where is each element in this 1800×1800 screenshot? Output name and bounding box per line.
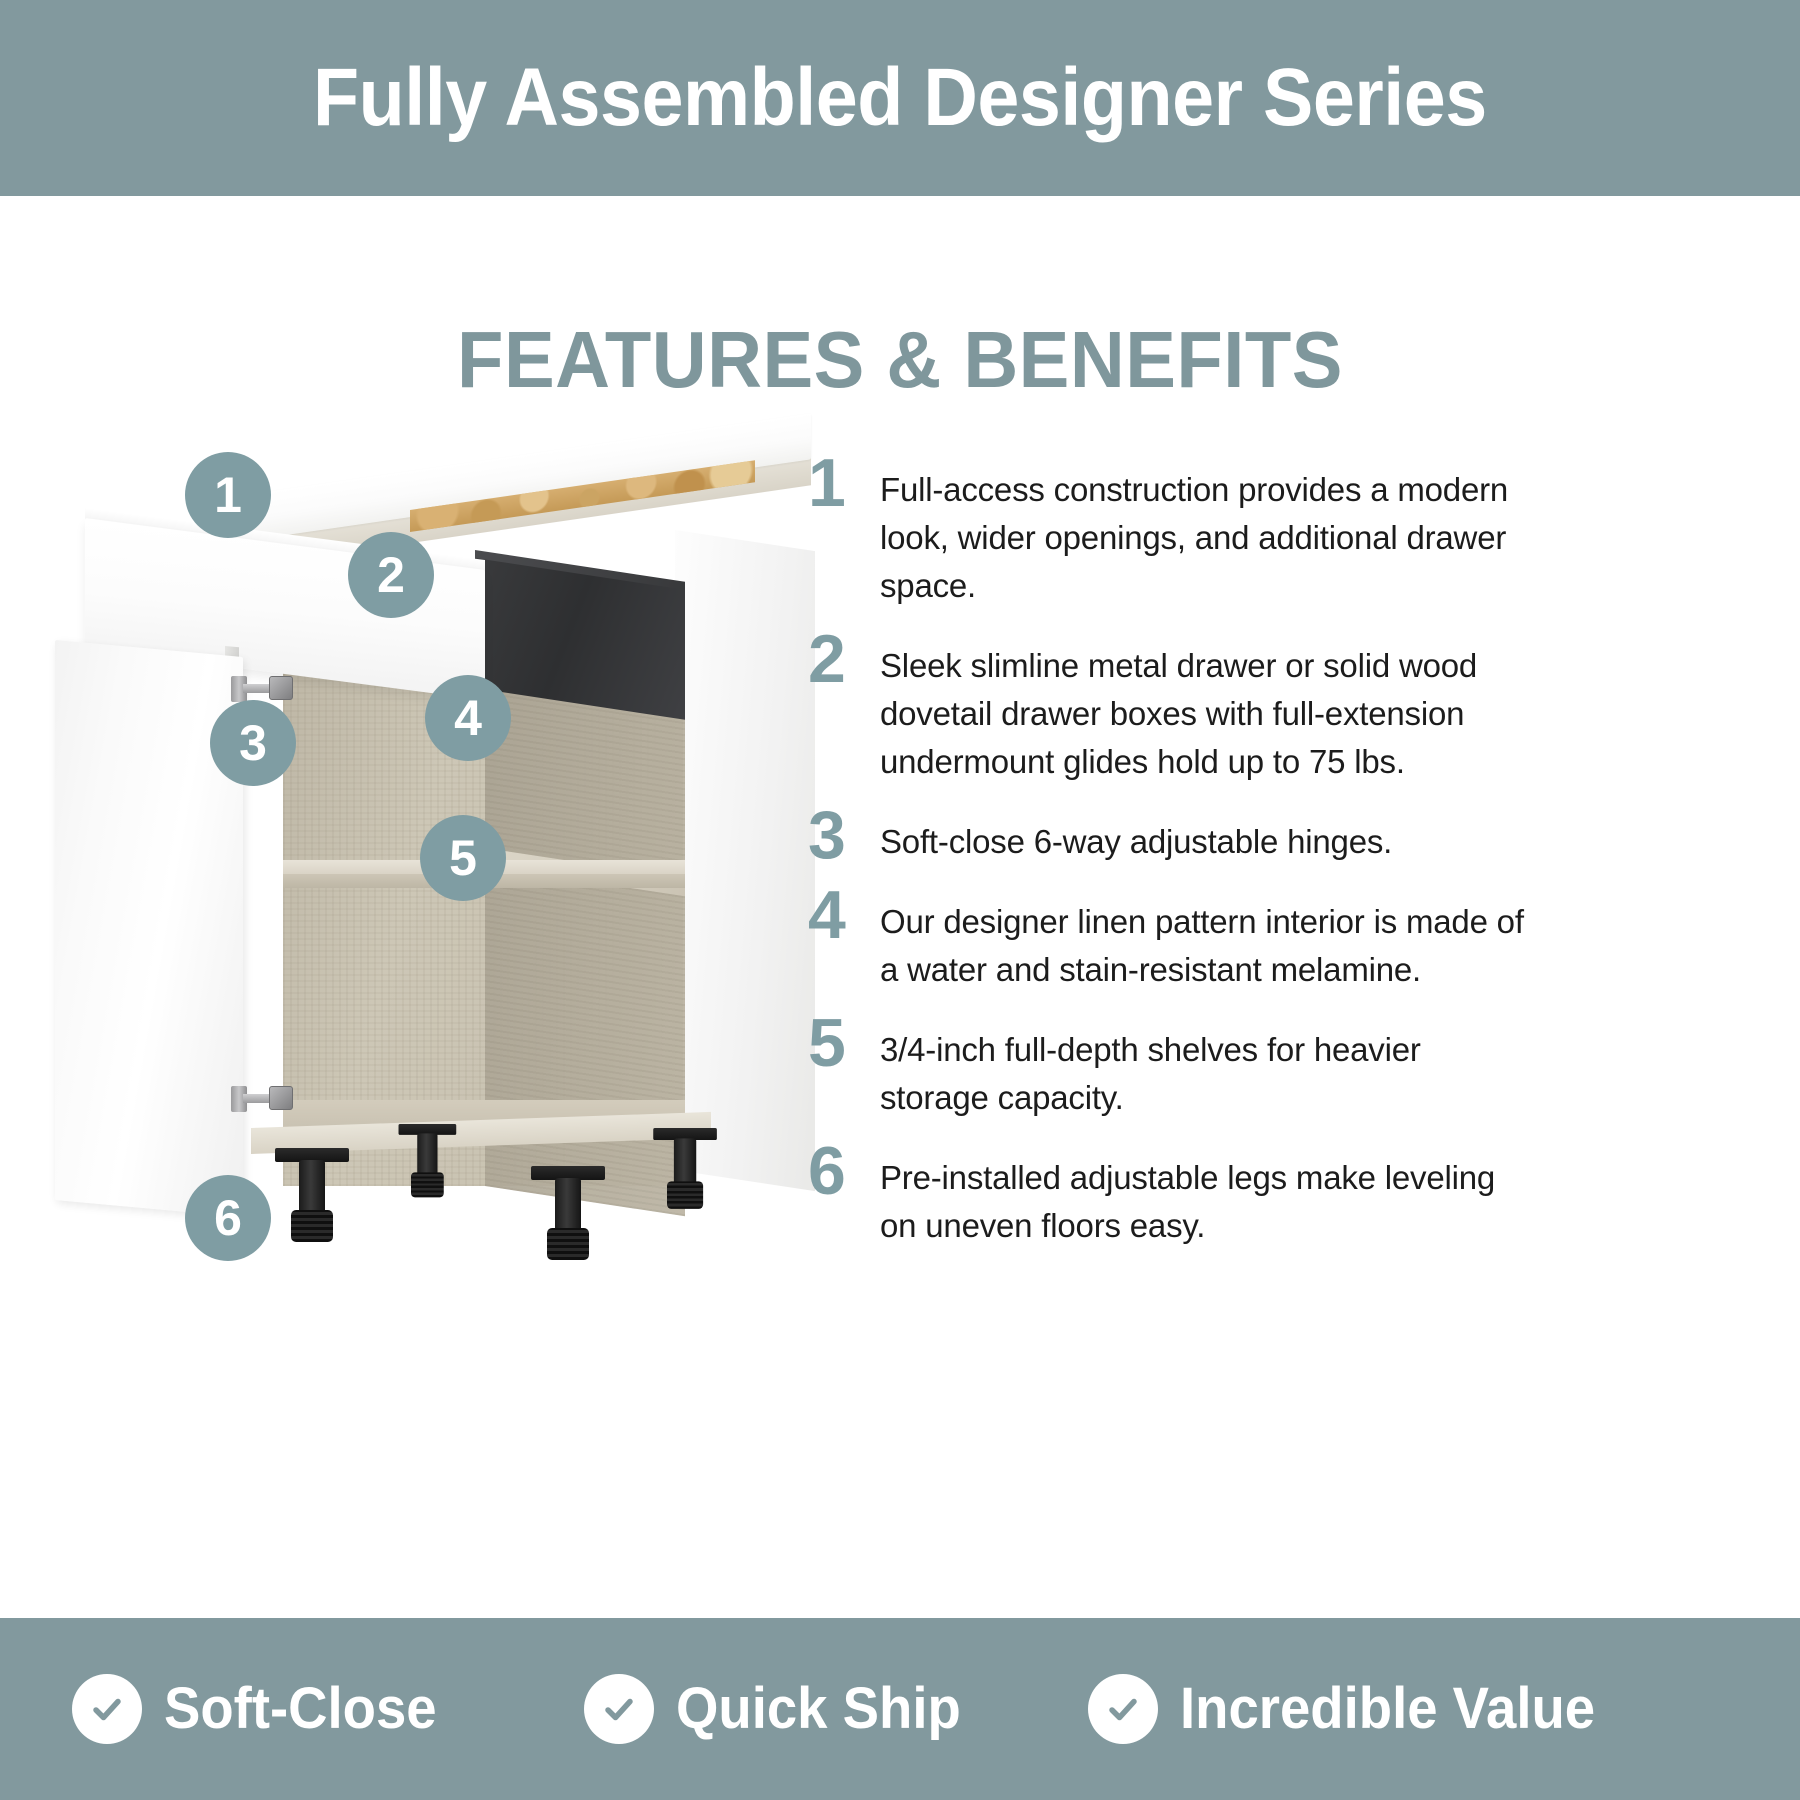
feature-item-6: 6 Pre-installed adjustable legs make lev… — [808, 1140, 1528, 1250]
feature-item-2: 2 Sleek slimline metal drawer or solid w… — [808, 628, 1528, 786]
callout-badge-6: 6 — [185, 1175, 271, 1261]
page-title: Fully Assembled Designer Series — [313, 57, 1487, 139]
callout-badge-1: 1 — [185, 452, 271, 538]
leg-foot — [547, 1228, 589, 1260]
feature-description: Soft-close 6-way adjustable hinges. — [880, 804, 1528, 866]
feature-description: Our designer linen pattern interior is m… — [880, 884, 1528, 994]
callout-badge-2: 2 — [348, 532, 434, 618]
footer-badge-quick-ship: Quick Ship — [584, 1674, 979, 1744]
footer-badge-label: Incredible Value — [1180, 1680, 1595, 1738]
footer-badge-label: Soft-Close — [164, 1680, 437, 1738]
feature-number: 5 — [808, 1012, 880, 1074]
feature-description: Full-access construction provides a mode… — [880, 452, 1528, 610]
leg-foot — [667, 1181, 703, 1209]
soft-close-hinge-bottom — [231, 1078, 295, 1118]
callout-badge-3: 3 — [210, 700, 296, 786]
callout-badge-5: 5 — [420, 815, 506, 901]
features-list: 1 Full-access construction provides a mo… — [808, 452, 1528, 1268]
header-bar: Fully Assembled Designer Series — [0, 0, 1800, 196]
cabinet-illustration — [55, 500, 845, 1330]
feature-description: Pre-installed adjustable legs make level… — [880, 1140, 1528, 1250]
footer-badge-soft-close: Soft-Close — [72, 1674, 454, 1744]
feature-number: 4 — [808, 884, 880, 946]
footer-badge-label: Quick Ship — [676, 1680, 961, 1738]
footer-badge-incredible-value: Incredible Value — [1088, 1674, 1622, 1744]
feature-description: Sleek slimline metal drawer or solid woo… — [880, 628, 1528, 786]
check-circle-icon — [72, 1674, 142, 1744]
feature-item-1: 1 Full-access construction provides a mo… — [808, 452, 1528, 610]
hinge-cup — [269, 1086, 293, 1110]
footer-bar: Soft-Close Quick Ship Incredible Value — [0, 1618, 1800, 1800]
leg-foot — [411, 1172, 444, 1197]
feature-description: 3/4-inch full-depth shelves for heavier … — [880, 1012, 1528, 1122]
cabinet-right-side-panel — [675, 530, 815, 1191]
feature-item-3: 3 Soft-close 6-way adjustable hinges. — [808, 804, 1528, 866]
check-circle-icon — [1088, 1674, 1158, 1744]
leg-foot — [291, 1210, 333, 1242]
hinge-cup — [269, 676, 293, 700]
feature-number: 3 — [808, 804, 880, 866]
feature-item-5: 5 3/4-inch full-depth shelves for heavie… — [808, 1012, 1528, 1122]
check-circle-icon — [584, 1674, 654, 1744]
feature-number: 1 — [808, 452, 880, 514]
feature-number: 2 — [808, 628, 880, 690]
feature-item-4: 4 Our designer linen pattern interior is… — [808, 884, 1528, 994]
callout-badge-4: 4 — [425, 675, 511, 761]
feature-number: 6 — [808, 1140, 880, 1202]
section-heading: FEATURES & BENEFITS — [45, 320, 1755, 400]
